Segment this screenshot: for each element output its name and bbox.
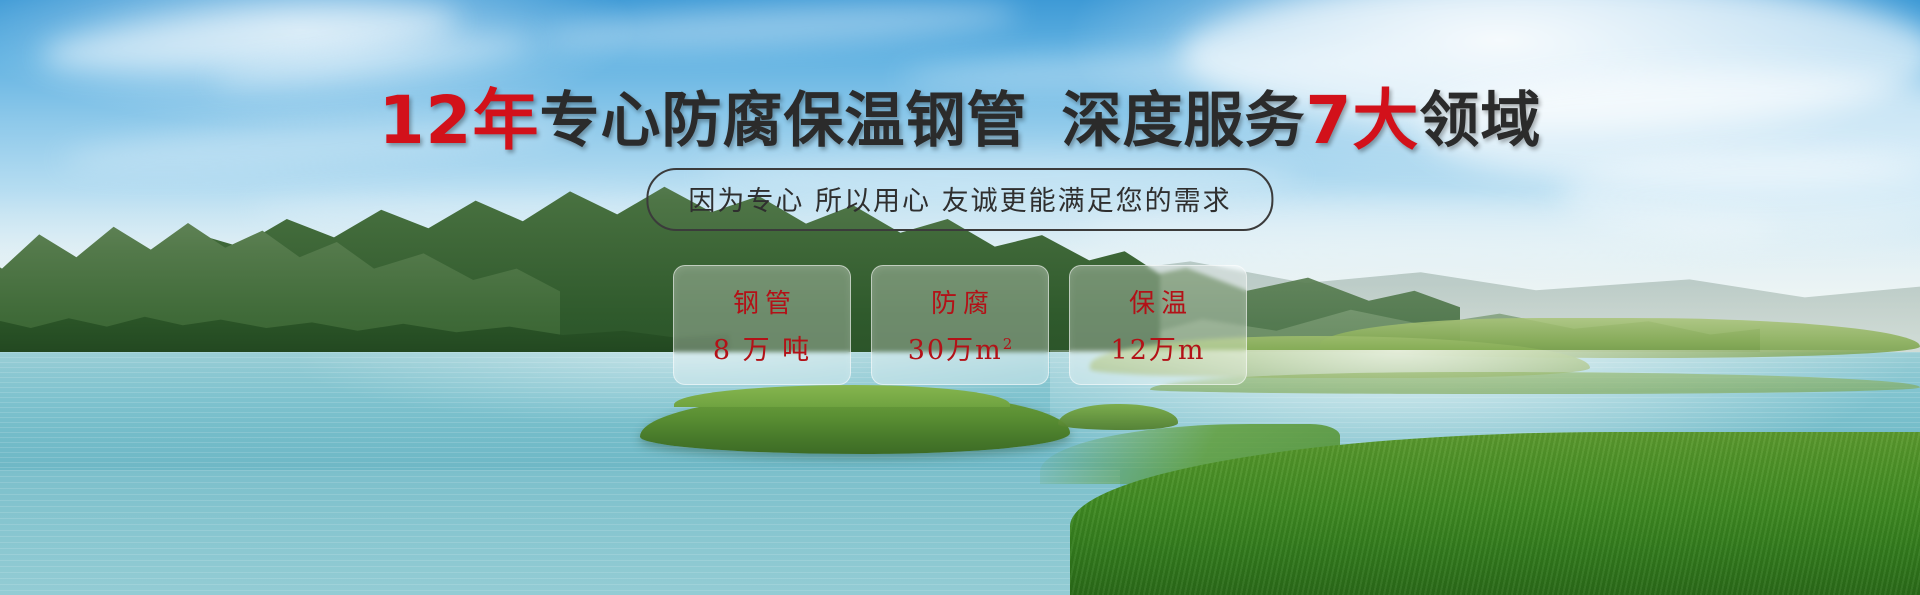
stat-value-text: 12万m: [1111, 335, 1206, 366]
stat-card-steel-pipe: 钢管 8 万 吨: [673, 265, 851, 385]
headline-fields-suffix: 领域: [1419, 86, 1541, 156]
stat-card-insulation: 保温 12万m: [1069, 265, 1247, 385]
foreground-water: [0, 470, 1120, 595]
stat-card-value: 8 万 吨: [713, 328, 811, 367]
stat-card-group: 钢管 8 万 吨 防腐 30万m2 保温 12万m: [673, 265, 1247, 385]
headline-fields-number: 7: [1305, 82, 1352, 159]
headline-years-number: 12: [379, 82, 473, 159]
subtitle-slogan: 因为专心 所以用心 友诚更能满足您的需求: [646, 168, 1273, 231]
stat-value-text: 30万m: [908, 335, 1003, 366]
headline-fields-measure: 大: [1352, 82, 1419, 159]
stat-value-text: 8 万 吨: [713, 335, 811, 366]
stat-card-label: 防腐: [925, 283, 995, 320]
headline-service-phrase: 深度服务: [1061, 86, 1305, 156]
stat-card-value: 12万m: [1111, 328, 1206, 367]
headline-main-phrase: 专心防腐保温钢管: [539, 86, 1027, 156]
stat-card-anticorrosion: 防腐 30万m2: [871, 265, 1049, 385]
page-title: 12年专心防腐保温钢管深度服务7大领域: [0, 86, 1920, 155]
grass-island-main: [640, 392, 1070, 454]
promo-banner: 12年专心防腐保温钢管深度服务7大领域 因为专心 所以用心 友诚更能满足您的需求…: [0, 0, 1920, 595]
stat-card-value: 30万m2: [908, 328, 1013, 367]
stat-value-superscript: 2: [1003, 335, 1013, 353]
headline-years-unit: 年: [472, 82, 539, 159]
stat-card-label: 保温: [1123, 283, 1193, 320]
stat-card-label: 钢管: [727, 283, 797, 320]
